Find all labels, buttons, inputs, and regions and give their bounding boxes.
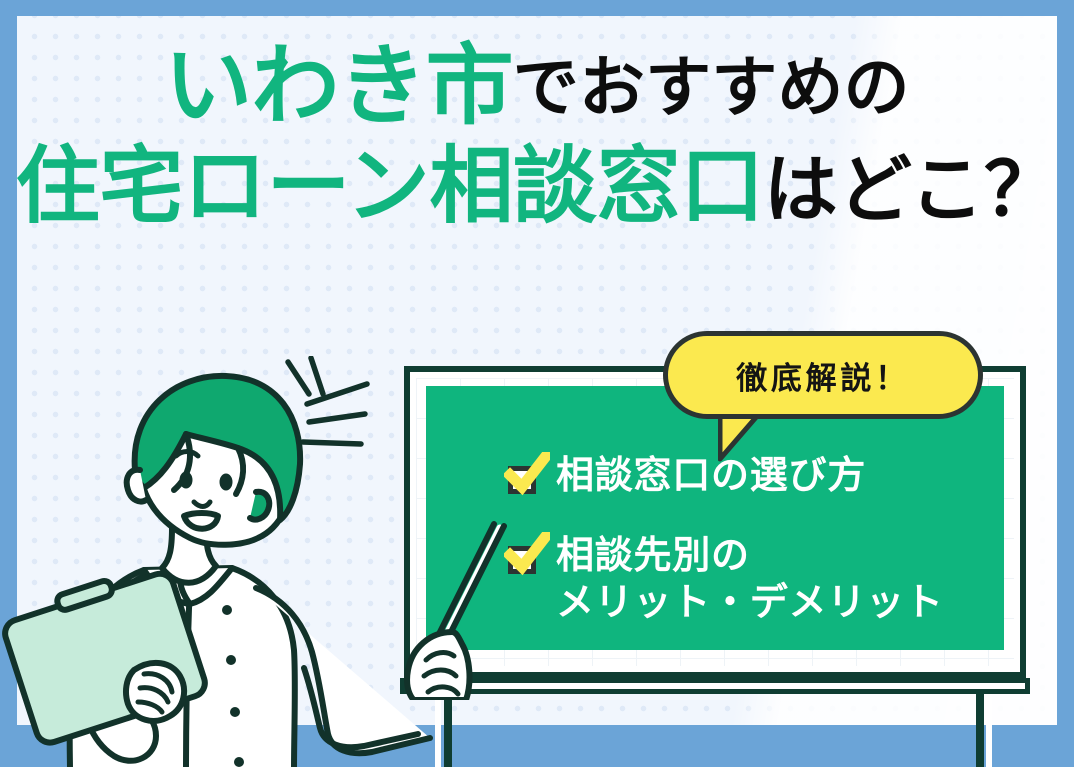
female-presenter-illustration bbox=[0, 352, 464, 767]
title-topic-highlight: 住宅ローン相談窓口 bbox=[16, 137, 764, 235]
list-item-line-1: 相談窓口の選び方 bbox=[556, 453, 866, 497]
checkbox-checked-icon bbox=[504, 460, 544, 498]
chalkboard-item-list: 相談窓口の選び方 相談先別の メリット・デメリット bbox=[504, 452, 970, 659]
list-item: 相談先別の メリット・デメリット bbox=[504, 532, 970, 625]
callout-bubble: 徹底解説！ bbox=[663, 331, 983, 419]
chalkboard-leg-shadow-right bbox=[986, 694, 992, 767]
poster-canvas: いわき市でおすすめの 住宅ローン相談窓口はどこ？ bbox=[0, 0, 1074, 767]
title-line-2-rest: はどこ？ bbox=[764, 147, 1058, 233]
pointer-stick-icon bbox=[400, 520, 530, 700]
list-item-line-2: メリット・デメリット bbox=[556, 580, 944, 624]
chalkboard-leg-right bbox=[976, 694, 984, 767]
page-title: いわき市でおすすめの 住宅ローン相談窓口はどこ？ bbox=[0, 38, 1074, 232]
bubble-label: 徹底解説！ bbox=[663, 331, 983, 419]
title-city-highlight: いわき市 bbox=[164, 34, 512, 137]
list-item-line-1: 相談先別の bbox=[556, 533, 750, 577]
title-line-1-rest: でおすすめの bbox=[513, 49, 910, 126]
title-line-2: 住宅ローン相談窓口はどこ？ bbox=[0, 141, 1074, 232]
title-line-1: いわき市でおすすめの bbox=[0, 38, 1074, 133]
